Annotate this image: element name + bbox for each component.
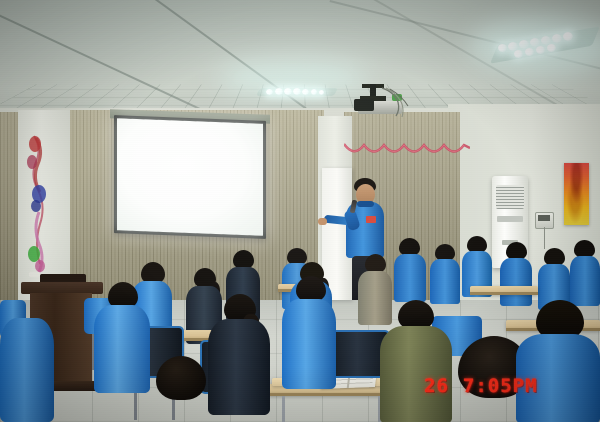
light-bulb: [302, 89, 309, 95]
light-bulb: [563, 32, 573, 41]
projection-screen-surface: [117, 118, 263, 236]
audience-uniform: [208, 319, 270, 415]
light-plate: [490, 26, 600, 63]
air-conditioner-grille: [496, 185, 524, 209]
presenter-badge: [366, 216, 376, 223]
light-bulb: [525, 48, 534, 56]
timestamp-day: 26: [424, 375, 449, 397]
audience-uniform: [282, 299, 336, 389]
audience-member-foreground: [380, 300, 452, 422]
presenter-collar: [357, 201, 374, 207]
thermostat-cable: [544, 227, 545, 249]
camera-timestamp: 267:05PM: [424, 375, 538, 397]
audience-uniform: [394, 254, 426, 302]
desk-leg: [282, 396, 285, 422]
audience-member: [430, 244, 460, 302]
audience-member: [394, 238, 426, 300]
ceiling-light-left: [258, 84, 336, 100]
light-bulb: [293, 88, 301, 95]
audience-uniform: [0, 318, 54, 422]
audience-uniform: [570, 256, 600, 306]
light-bulb: [275, 88, 283, 95]
thermostat-display: [538, 215, 550, 221]
light-bulb: [514, 50, 523, 58]
presenter-hand-left: [318, 218, 327, 225]
audience-member-foreground: [208, 294, 270, 414]
audience-olive-jacket: [380, 326, 452, 422]
projector-lens-housing: [354, 99, 374, 111]
light-bulb: [547, 44, 556, 52]
desk-edge: [470, 292, 538, 295]
audience-uniform: [430, 259, 460, 304]
projection-screen: [114, 115, 266, 239]
audience-member-foreground: [282, 276, 336, 388]
audience-member: [538, 248, 570, 308]
air-conditioner-panel: [497, 216, 523, 222]
classroom-chair: [330, 330, 386, 388]
light-bulb: [284, 88, 292, 95]
photograph: 267:05PM: [0, 0, 600, 422]
classroom-desk: [470, 286, 538, 295]
poster-graphic: [564, 163, 589, 225]
projector-cables: [378, 86, 418, 118]
light-bulb: [266, 89, 273, 95]
audience-member-foreground: [0, 318, 54, 422]
light-bulb: [552, 34, 562, 43]
ceiling-projector: [352, 84, 414, 118]
audience-hair: [156, 356, 206, 400]
wall-decorations-left: [20, 132, 70, 294]
audience-uniform: [94, 305, 150, 393]
light-bulb: [311, 89, 317, 95]
audience-uniform: [500, 258, 532, 306]
audience-member: [570, 240, 600, 304]
curtain-garland: [344, 140, 470, 162]
light-bulb: [536, 46, 545, 54]
audience-member-foreground: [94, 282, 150, 392]
light-bulb: [319, 90, 324, 95]
ceiling-light-right: [494, 28, 596, 62]
wall-poster: [564, 163, 589, 225]
audience-member-foreground: [516, 300, 600, 422]
light-bulb: [498, 44, 507, 52]
desk-edge: [268, 393, 396, 396]
timestamp-time: 7:05PM: [463, 375, 538, 397]
audience-member-foreground: [150, 356, 216, 422]
